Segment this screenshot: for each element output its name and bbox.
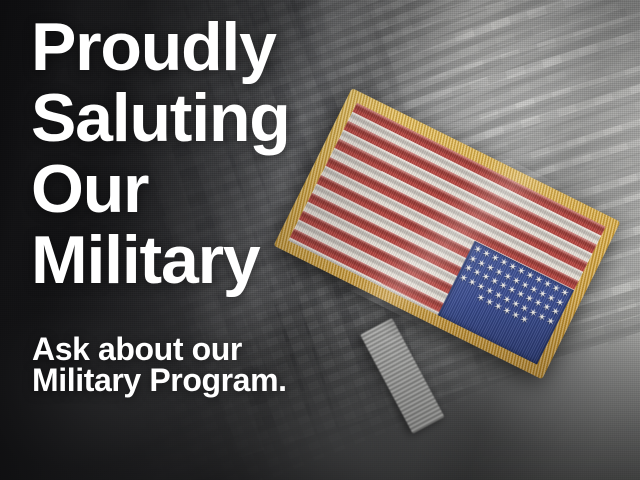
page-title: Proudly Saluting Our Military [31,12,290,296]
subheading: Ask about our Military Program. [32,334,287,396]
military-program-banner: ✶✶✶✶✶✶✶✶✶✶✶✶✶✶✶✶✶✶✶✶✶✶✶✶✶✶✶✶✶✶✶✶✶✶✶✶✶✶✶✶… [0,0,640,480]
